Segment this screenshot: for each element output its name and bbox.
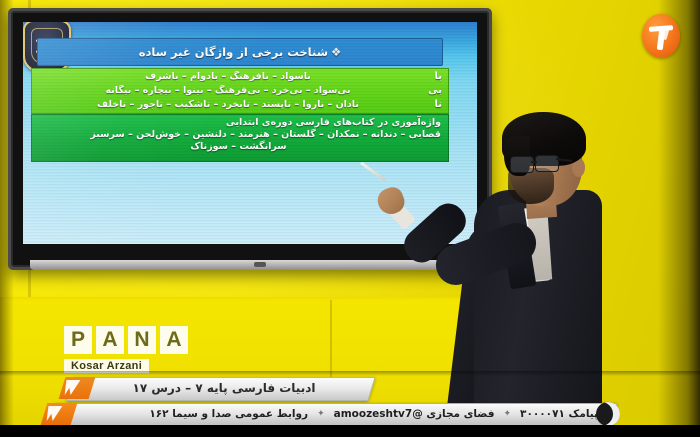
- bullet-icon: ❖: [331, 45, 341, 59]
- irib-moon-icon: [596, 402, 620, 426]
- prefix-key: با: [420, 71, 442, 82]
- pana-watermark: P A N A Kosar Arzani: [64, 326, 204, 374]
- prefix-words: نادان – ناروا – ناپسند – نابخرد – ناشکیب…: [36, 99, 420, 110]
- program-title-text: ادبیات فارسی پایه ۷ – درس ۱۷: [84, 379, 364, 397]
- lower-third-shadow: [0, 371, 700, 376]
- contact-item-social: فضای مجازی @amoozeshtv7: [334, 405, 495, 423]
- letterbox-bar: [0, 425, 700, 437]
- pana-letter: A: [96, 326, 124, 354]
- vocabulary-line-1: قصابی – دندانه – نمکدان – گلستان – هنرمن…: [32, 128, 448, 140]
- channel-number-seven-icon: [649, 22, 673, 50]
- prefix-word-list-box: با باسواد – بافرهنگ – بادوام – باشرف بی …: [31, 68, 449, 114]
- separator-icon: ✦: [317, 405, 325, 423]
- tv-ir-sensor-icon: [254, 262, 266, 267]
- prefix-key: نا: [420, 99, 442, 110]
- channel-logo-icon: [642, 14, 680, 58]
- slide-header-banner: ❖شناخت برخی از واژگان غیر ساده: [37, 38, 443, 66]
- tv-bottom-frame: [30, 260, 470, 270]
- desk-seam: [330, 300, 332, 380]
- vocabulary-title: واژه‌آموزی در کتاب‌های فارسی دوره‌ی ابتد…: [32, 115, 448, 128]
- flag-glyph-icon: [44, 406, 63, 421]
- prefix-key: بی: [420, 85, 442, 96]
- glasses-lens-left-icon: [510, 156, 534, 173]
- pana-letters: P A N A: [64, 326, 204, 354]
- glasses-bridge-icon: [531, 161, 537, 163]
- pana-letter: A: [160, 326, 188, 354]
- prefix-words: باسواد – بافرهنگ – بادوام – باشرف: [36, 71, 420, 82]
- tv-broadcast-frame: ❖شناخت برخی از واژگان غیر ساده با باسواد…: [0, 0, 700, 437]
- prefix-words: بی‌سواد – بی‌خرد – بی‌فرهنگ – بینوا – بی…: [36, 85, 420, 96]
- pana-letter: P: [64, 326, 92, 354]
- table-row: با باسواد – بافرهنگ – بادوام – باشرف: [32, 69, 448, 83]
- presentation-slide: ❖شناخت برخی از واژگان غیر ساده با باسواد…: [23, 22, 477, 244]
- separator-icon: ✦: [503, 405, 511, 423]
- contact-info-text: پیامک ۳۰۰۰۰۷۱ ✦ فضای مجازی @amoozeshtv7 …: [70, 405, 606, 423]
- pana-letter: N: [128, 326, 156, 354]
- contact-item-pr: روابط عمومی صدا و سیما ۱۶۲: [149, 405, 308, 423]
- vocabulary-line-2: سرانگشت – سوزناک: [32, 140, 448, 152]
- tv-screen: ❖شناخت برخی از واژگان غیر ساده با باسواد…: [23, 22, 477, 244]
- slide-header-label: شناخت برخی از واژگان غیر ساده: [139, 45, 328, 59]
- table-row: بی بی‌سواد – بی‌خرد – بی‌فرهنگ – بینوا –…: [32, 83, 448, 97]
- flag-glyph-icon: [62, 380, 81, 395]
- vocabulary-box: واژه‌آموزی در کتاب‌های فارسی دوره‌ی ابتد…: [31, 114, 449, 162]
- table-row: نا نادان – ناروا – ناپسند – نابخرد – ناش…: [32, 97, 448, 111]
- contact-item-sms: پیامک ۳۰۰۰۰۷۱: [520, 405, 598, 423]
- slide-header-text: ❖شناخت برخی از واژگان غیر ساده: [139, 45, 342, 59]
- presenter: [452, 112, 602, 437]
